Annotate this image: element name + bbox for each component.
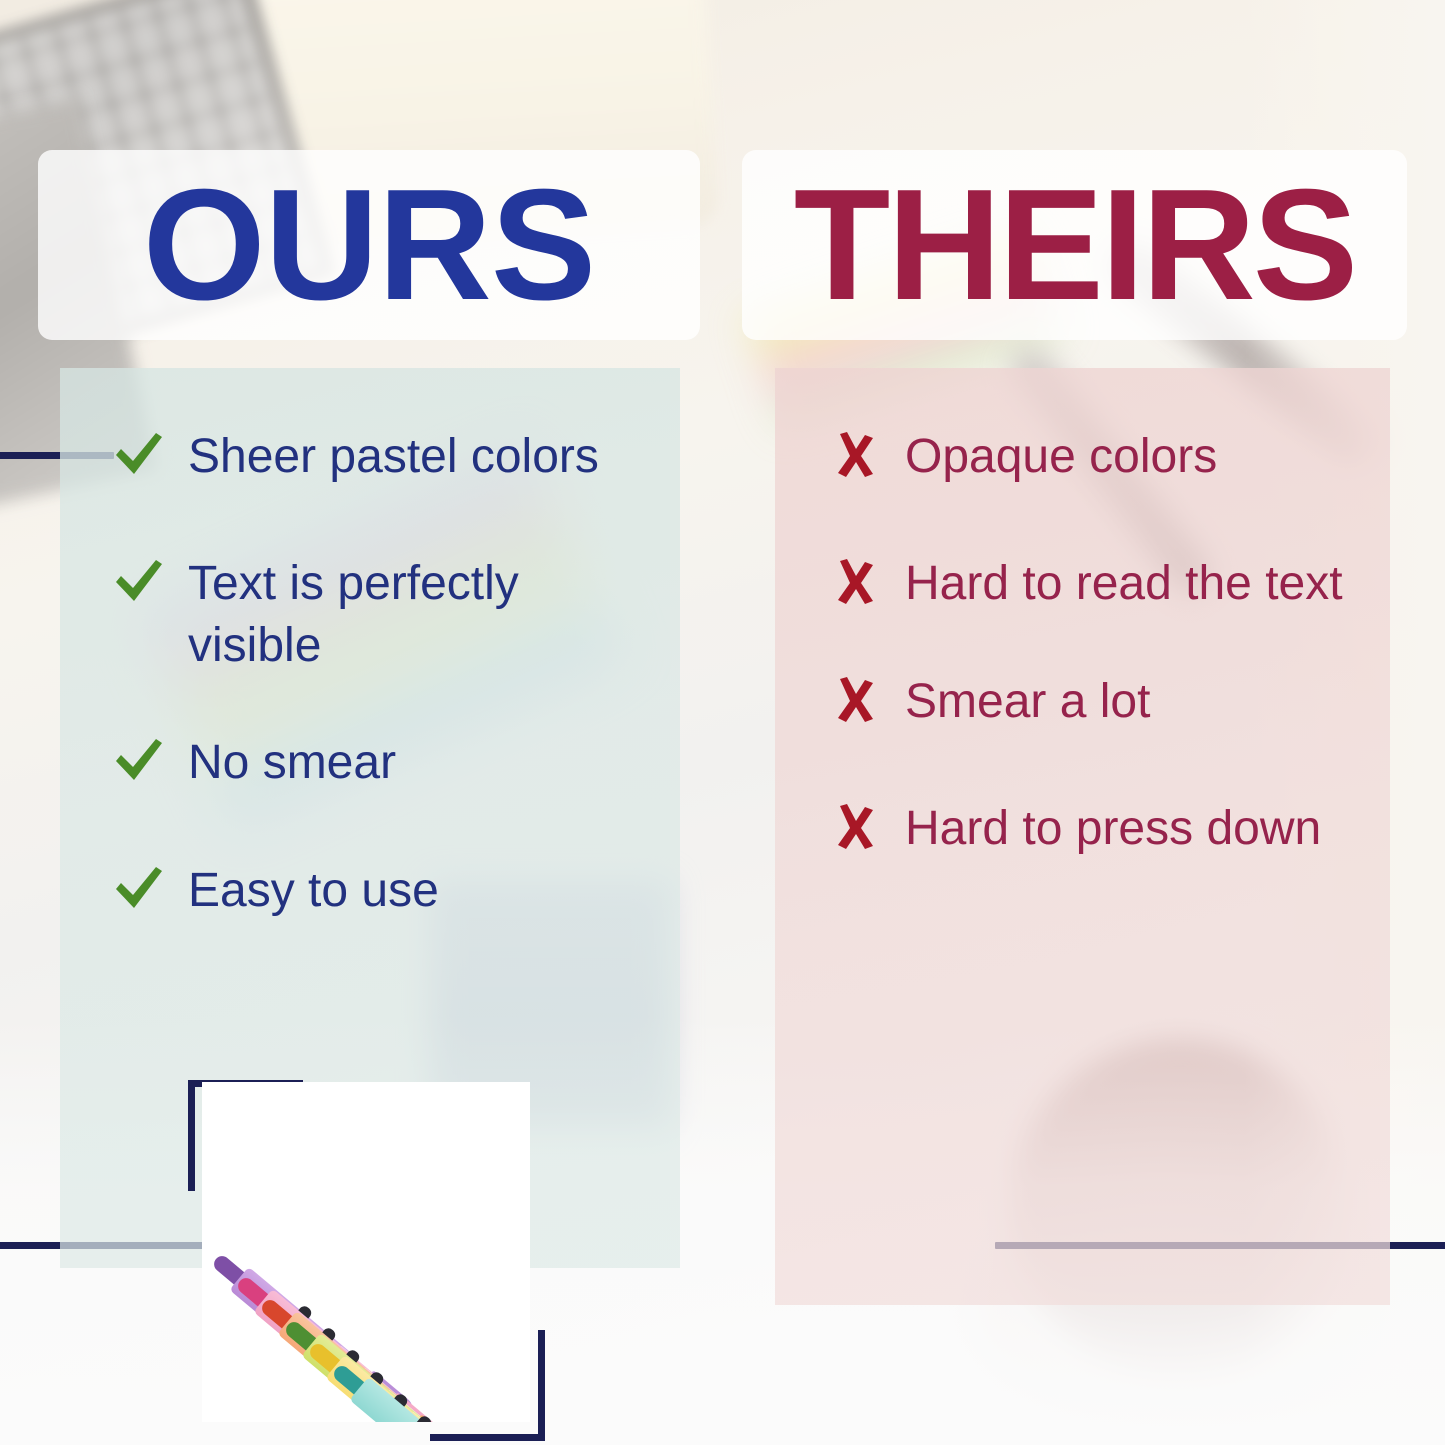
list-item: Easy to use <box>110 860 730 921</box>
check-icon <box>110 860 166 912</box>
ours-heading-banner: OURS <box>38 150 700 340</box>
list-item-label: Easy to use <box>188 860 439 921</box>
list-item: Sheer pastel colors <box>110 426 730 487</box>
list-item: Hard to press down <box>827 798 1442 859</box>
list-item-label: Hard to press down <box>905 798 1321 859</box>
ours-feature-list: Sheer pastel colors Text is perfectly vi… <box>60 368 730 987</box>
theirs-heading-banner: THEIRS <box>742 150 1407 340</box>
cross-icon <box>827 671 883 723</box>
theirs-panel: Opaque colors Hard to read the text Smea… <box>775 368 1390 1305</box>
ours-heading-text: OURS <box>143 166 596 324</box>
check-icon <box>110 426 166 478</box>
list-item-label: Hard to read the text <box>905 553 1343 614</box>
list-item: Opaque colors <box>827 426 1442 487</box>
list-item-label: Smear a lot <box>905 671 1150 732</box>
check-icon <box>110 553 166 605</box>
comparison-infographic: OURS Sheer pastel colors Text is perfect… <box>0 0 1445 1445</box>
list-item: Hard to read the text <box>827 553 1442 614</box>
list-item: No smear <box>110 732 730 793</box>
list-item: Smear a lot <box>827 671 1442 732</box>
cross-icon <box>827 798 883 850</box>
check-icon <box>110 732 166 784</box>
cross-icon <box>827 426 883 478</box>
list-item-label: Text is perfectly visible <box>188 553 658 676</box>
list-item-label: No smear <box>188 732 396 793</box>
cross-icon <box>827 553 883 605</box>
list-item-label: Opaque colors <box>905 426 1217 487</box>
product-photo-inset <box>202 1082 530 1422</box>
theirs-heading-text: THEIRS <box>794 166 1355 324</box>
pen-teal <box>326 1358 530 1422</box>
list-item: Text is perfectly visible <box>110 553 730 676</box>
theirs-feature-list: Opaque colors Hard to read the text Smea… <box>775 368 1442 926</box>
highlighter-pens-photo <box>202 1082 530 1422</box>
list-item-label: Sheer pastel colors <box>188 426 599 487</box>
